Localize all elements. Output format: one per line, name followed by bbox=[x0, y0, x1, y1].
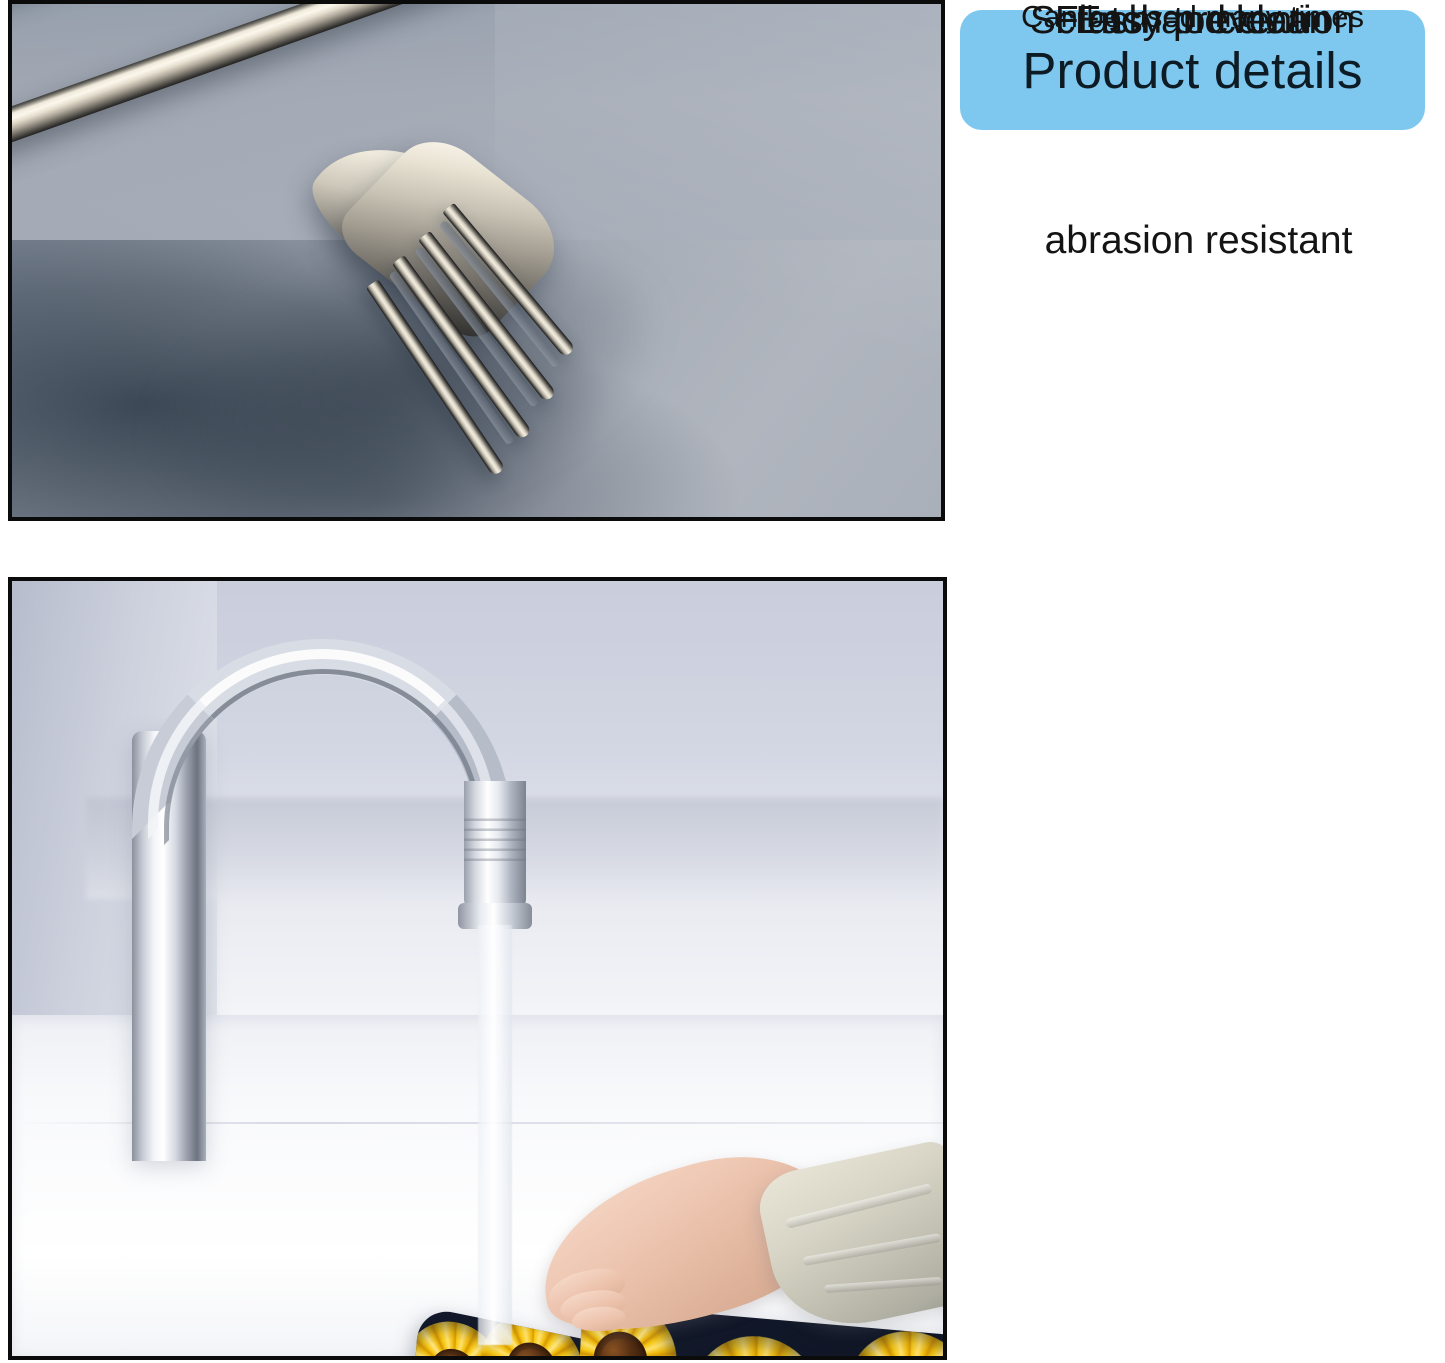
photo-sunflower-cloth-on-faucet bbox=[8, 577, 947, 1360]
feature-abrasion-resistant: abrasion resistant bbox=[966, 220, 1431, 263]
product-details-page: Product details abrasion resistant Scrat… bbox=[0, 0, 1445, 1363]
feature-can-be-used-many-times: Can be used many times bbox=[960, 0, 1425, 34]
sink-photo-content bbox=[12, 581, 943, 1356]
faucet-water-stream bbox=[478, 925, 512, 1345]
sunflower-motif bbox=[687, 1331, 827, 1356]
product-details-header-label: Product details bbox=[1022, 45, 1362, 96]
faucet-spout-rings bbox=[464, 811, 526, 863]
photo-fork-on-gray-surface bbox=[8, 0, 945, 521]
feature-text-column: Product details abrasion resistant Scrat… bbox=[960, 0, 1445, 1363]
fork-photo-content bbox=[12, 4, 941, 517]
